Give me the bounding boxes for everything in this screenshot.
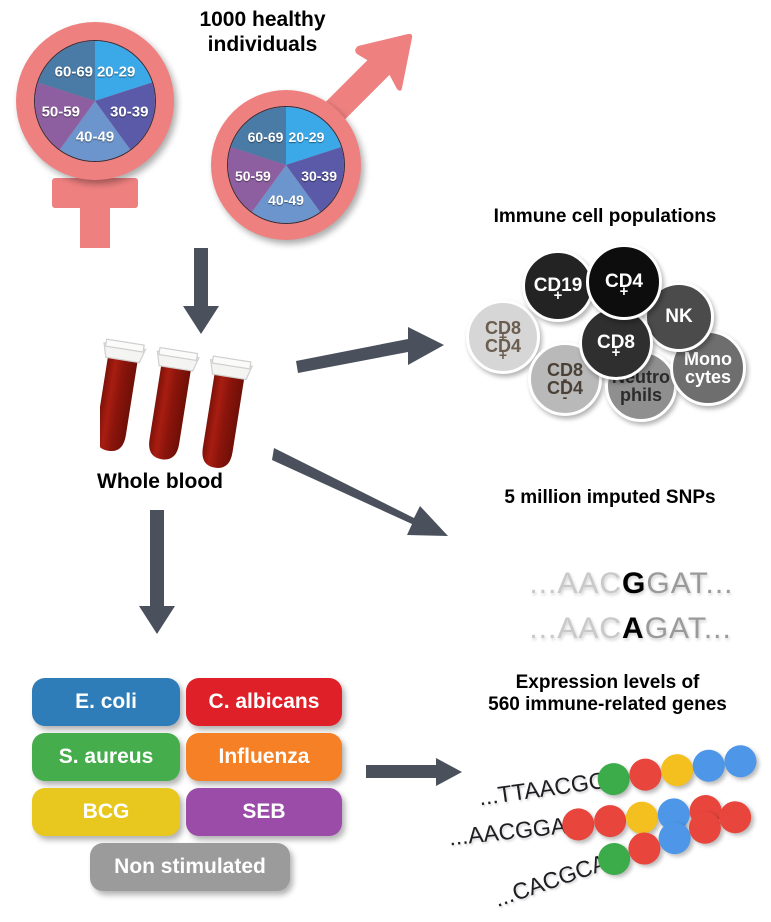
cell-label-line: CD19+ xyxy=(534,276,583,295)
expression-bead xyxy=(593,803,628,838)
cell-label-line: CD8+ xyxy=(485,319,521,337)
pie-label-30-39: 30-39 xyxy=(110,104,148,121)
stimulus-seb[interactable]: SEB xyxy=(186,788,342,836)
immune-cell-cd19-positive: CD19+ xyxy=(522,250,594,322)
blood-tubes xyxy=(100,330,290,470)
stimulus-label: SEB xyxy=(242,800,285,824)
stimulus-e-coli[interactable]: E. coli xyxy=(32,678,180,726)
expression-sequence-text: ...AACGGAT xyxy=(448,811,580,851)
stimulus-influenza[interactable]: Influenza xyxy=(186,733,342,781)
age-pie-chart-male: 20-2930-3940-4950-5960-69 xyxy=(227,106,345,224)
cell-label-line: CD8+ xyxy=(597,333,635,352)
female-symbol-crossbar xyxy=(52,178,138,208)
stimulus-label: BCG xyxy=(83,800,130,824)
snp-suffix: GAT... xyxy=(645,612,732,645)
stimuli-panel: E. coli C. albicans S. aureus Influenza … xyxy=(32,678,342,893)
stimulus-label: S. aureus xyxy=(59,745,154,769)
cell-label-line: phils xyxy=(612,386,670,404)
male-symbol: 20-2930-3940-4950-5960-69 xyxy=(205,28,420,248)
pie-label-20-29: 20-29 xyxy=(97,63,135,80)
pie-label-50-59: 50-59 xyxy=(42,104,80,121)
pie-label-30-39: 30-39 xyxy=(301,168,337,184)
stimulus-label: C. albicans xyxy=(209,690,320,714)
stimulus-bcg[interactable]: BCG xyxy=(32,788,180,836)
snp-variant-base: A xyxy=(622,612,645,645)
immune-cell-cd4-positive: CD4+ xyxy=(586,244,662,320)
cell-label-line: CD8- xyxy=(547,361,583,379)
expression-bead xyxy=(627,757,663,793)
stimulus-label: Non stimulated xyxy=(114,855,266,879)
pie-label-40-49: 40-49 xyxy=(76,129,114,146)
stimulus-label: Influenza xyxy=(218,745,309,769)
expression-bead xyxy=(722,743,758,779)
whole-blood-label: Whole blood xyxy=(70,470,250,494)
expression-section-title: Expression levels of 560 immune-related … xyxy=(450,672,765,717)
immune-cell-cluster: CD8+ CD4+ CD8- CD4- Neutro phils Mono cy… xyxy=(466,242,766,422)
immune-section-title: Immune cell populations xyxy=(450,206,760,228)
pie-label-50-59: 50-59 xyxy=(235,168,271,184)
snp-prefix: ...AAC xyxy=(529,612,622,645)
pie-label-60-69: 60-69 xyxy=(248,129,284,145)
cell-label-line: CD4+ xyxy=(485,337,521,355)
expression-bead xyxy=(691,748,727,784)
snps-section-title: 5 million imputed SNPs xyxy=(455,487,765,509)
immune-cell-cd8-pos-cd4-pos: CD8+ CD4+ xyxy=(466,300,540,374)
cell-label-line: Mono xyxy=(684,350,732,368)
stimulus-label: E. coli xyxy=(75,690,137,714)
stimulus-c-albicans[interactable]: C. albicans xyxy=(186,678,342,726)
expression-bead xyxy=(659,752,695,788)
female-symbol: 20-2930-3940-4950-5960-69 xyxy=(8,18,198,263)
cell-label-line: CD4+ xyxy=(605,272,643,291)
pie-label-20-29: 20-29 xyxy=(289,129,325,145)
expression-bead xyxy=(715,797,756,838)
diagram-canvas: 1000 healthy individuals 20-2930-3940-49… xyxy=(0,0,771,922)
stimulus-non-stimulated[interactable]: Non stimulated xyxy=(90,843,290,891)
snp-sequence-allele-a: ...AACAGAT... xyxy=(492,578,732,680)
pie-label-40-49: 40-49 xyxy=(268,192,304,208)
age-pie-chart-female: 20-2930-3940-4950-5960-69 xyxy=(34,40,156,162)
expression-strand-group: ...TTAACGG ...AACGGAT ...CACGCAA xyxy=(455,740,771,920)
cell-label-line: NK xyxy=(665,307,692,326)
cell-label-line: CD4- xyxy=(547,379,583,397)
pie-label-60-69: 60-69 xyxy=(55,63,93,80)
cell-label-line: cytes xyxy=(684,368,732,386)
male-symbol-arrowhead xyxy=(350,30,416,96)
stimulus-s-aureus[interactable]: S. aureus xyxy=(32,733,180,781)
